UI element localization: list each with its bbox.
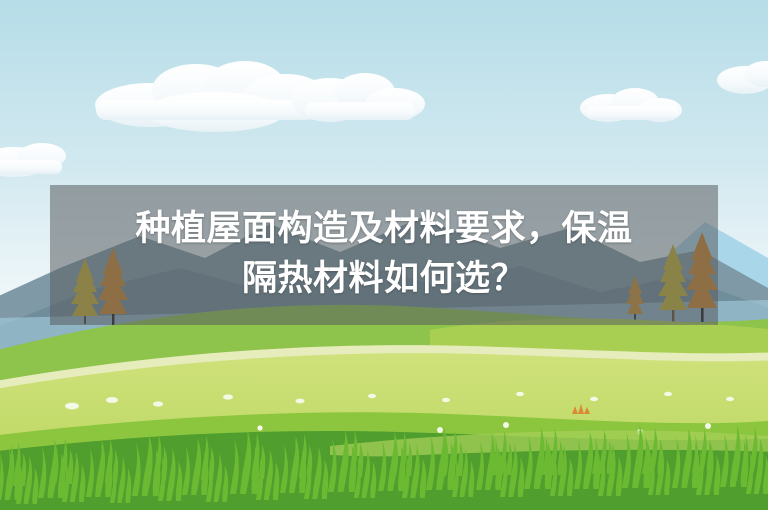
title-overlay-banner: 种植屋面构造及材料要求，保温 隔热材料如何选？ bbox=[50, 185, 718, 325]
banner-illustration: 种植屋面构造及材料要求，保温 隔热材料如何选？ bbox=[0, 0, 768, 510]
cloud-left-edge bbox=[0, 143, 66, 177]
banner-title-line-2: 隔热材料如何选？ bbox=[242, 255, 526, 305]
banner-title-line-1: 种植屋面构造及材料要求，保温 bbox=[135, 205, 632, 255]
